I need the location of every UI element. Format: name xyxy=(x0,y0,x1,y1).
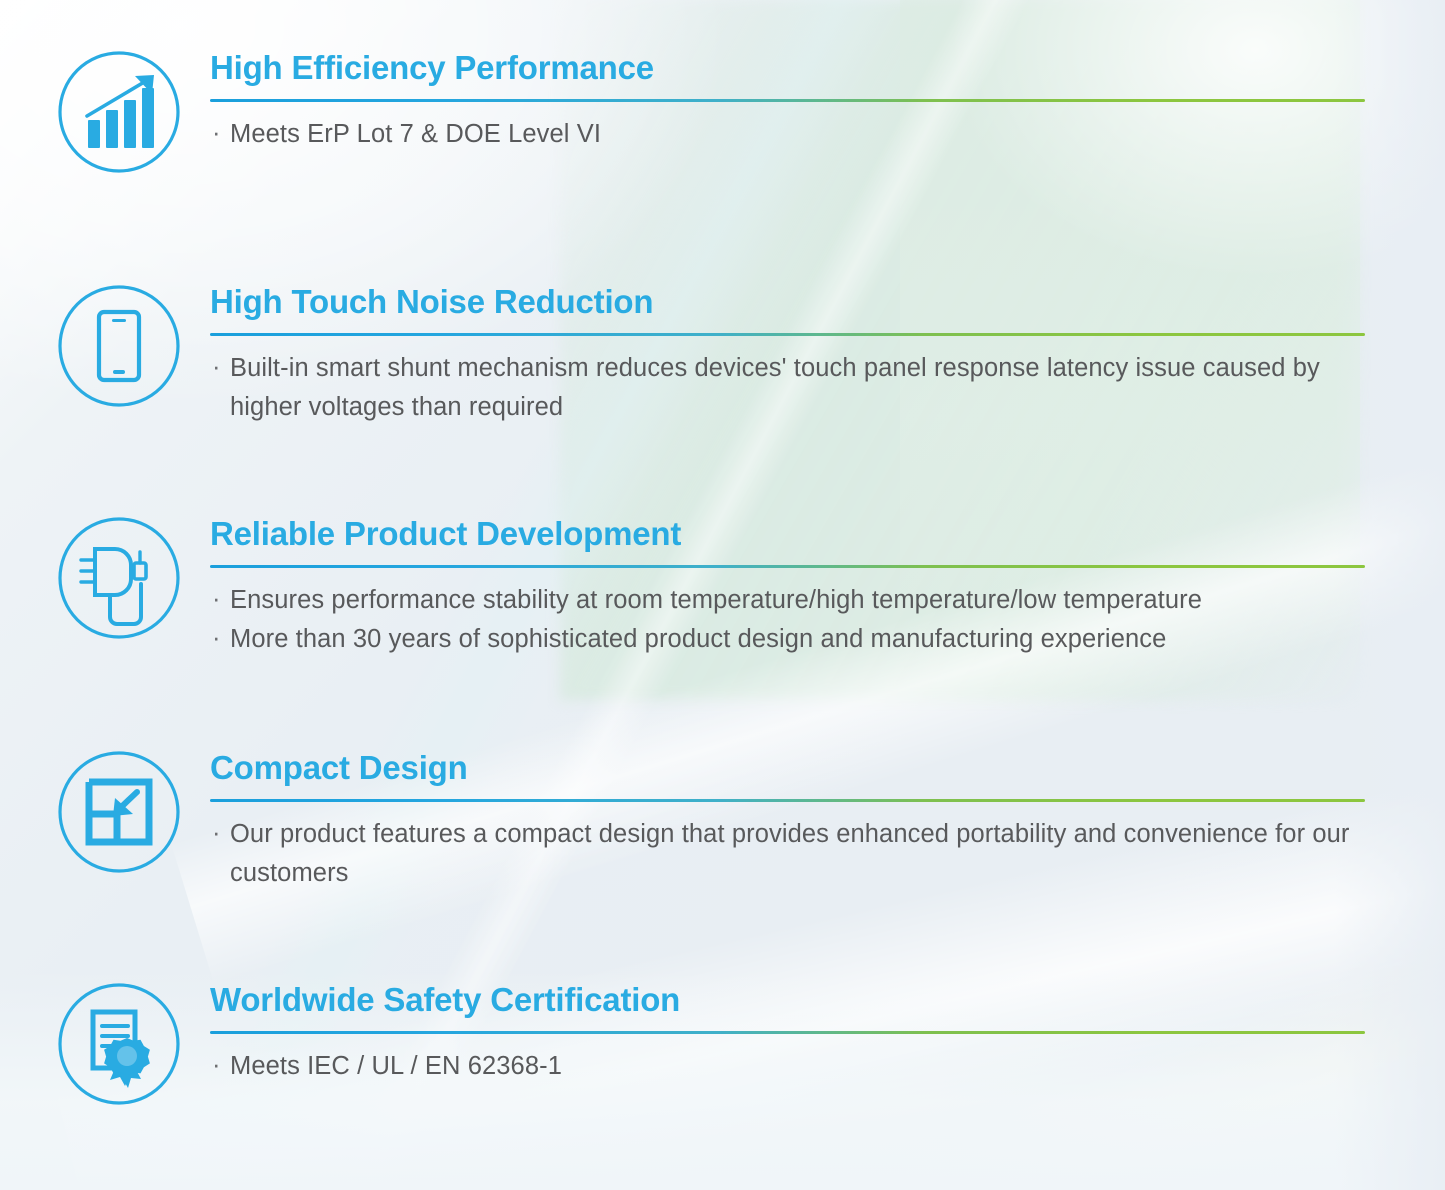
feature-body: High Touch Noise Reduction Built-in smar… xyxy=(210,282,1370,427)
feature-title: Reliable Product Development xyxy=(210,514,1370,554)
feature-body: High Efficiency Performance Meets ErP Lo… xyxy=(210,48,1370,154)
bar-chart-growth-icon-svg xyxy=(55,48,183,176)
feature-body: Compact Design Our product features a co… xyxy=(210,748,1370,893)
feature-bullets: Our product features a compact design th… xyxy=(210,802,1370,893)
feature-bullets: Meets IEC / UL / EN 62368-1 xyxy=(210,1034,1370,1086)
certificate-award-icon-svg xyxy=(55,980,183,1108)
feature-bullets: Meets ErP Lot 7 & DOE Level VI xyxy=(210,102,1370,154)
power-adapter-icon-svg xyxy=(55,514,183,642)
power-adapter-icon xyxy=(55,514,183,642)
bullet-item: More than 30 years of sophisticated prod… xyxy=(210,620,1370,659)
feature-title: High Efficiency Performance xyxy=(210,48,1370,88)
feature-highlights-page: High Efficiency Performance Meets ErP Lo… xyxy=(0,0,1445,1190)
bullet-item: Meets ErP Lot 7 & DOE Level VI xyxy=(210,115,1370,154)
feature-title: High Touch Noise Reduction xyxy=(210,282,1370,322)
bullet-item: Ensures performance stability at room te… xyxy=(210,581,1370,620)
compact-resize-icon-svg xyxy=(55,748,183,876)
smartphone-icon xyxy=(55,282,183,410)
feature-list: High Efficiency Performance Meets ErP Lo… xyxy=(0,0,1445,1190)
feature-bullets: Built-in smart shunt mechanism reduces d… xyxy=(210,336,1370,427)
bullet-item: Our product features a compact design th… xyxy=(210,815,1370,893)
bullet-item: Meets IEC / UL / EN 62368-1 xyxy=(210,1047,1370,1086)
feature-bullets: Ensures performance stability at room te… xyxy=(210,568,1370,659)
compact-resize-icon xyxy=(55,748,183,876)
bullet-item: Built-in smart shunt mechanism reduces d… xyxy=(210,349,1370,427)
feature-title: Compact Design xyxy=(210,748,1370,788)
smartphone-icon-svg xyxy=(55,282,183,410)
feature-body: Worldwide Safety Certification Meets IEC… xyxy=(210,980,1370,1086)
feature-title: Worldwide Safety Certification xyxy=(210,980,1370,1020)
feature-body: Reliable Product Development Ensures per… xyxy=(210,514,1370,659)
bar-chart-growth-icon xyxy=(55,48,183,176)
certificate-award-icon xyxy=(55,980,183,1108)
